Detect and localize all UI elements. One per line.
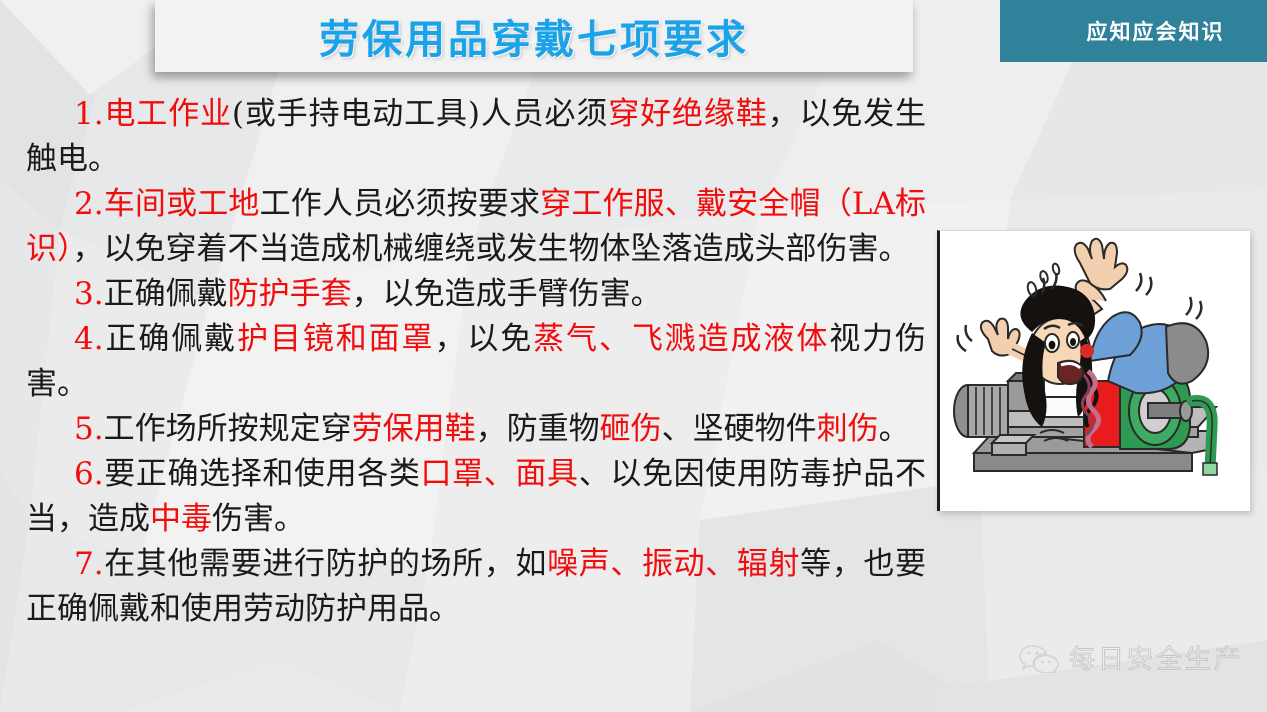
page-title: 劳保用品穿戴七项要求 (319, 7, 749, 65)
highlighted-text: 5. (74, 411, 104, 447)
requirement-item-6: 6.要正确选择和使用各类口罩、面具、以免因使用防毒护品不当，造成中毒伤害。 (26, 452, 926, 542)
watermark: 每日安全生产 (1019, 639, 1243, 676)
body-text: ，以免造成手臂伤害。 (352, 276, 662, 312)
body-text: ，防重物 (476, 411, 600, 447)
requirement-item-5: 5.工作场所按规定穿劳保用鞋，防重物砸伤、坚硬物件刺伤。 (26, 407, 926, 452)
highlighted-text: 2. (74, 186, 104, 222)
body-text: 、坚硬物件 (662, 411, 817, 447)
highlighted-text: 噪声、振动、辐射 (547, 546, 800, 582)
highlighted-text: 口罩、面具 (421, 456, 579, 492)
highlighted-text: 4. (74, 321, 104, 357)
content-body: 1.电工作业(或手持电动工具)人员必须穿好绝缘鞋，以免发生触电。 2.车间或工地… (26, 92, 926, 632)
highlighted-text: 1. (74, 96, 104, 132)
highlighted-text: 6. (74, 456, 104, 492)
body-text: (或手持电动工具)人员必须 (232, 96, 608, 132)
highlighted-text: 砸伤 (600, 411, 662, 447)
highlighted-text: 7. (74, 546, 104, 582)
body-text: 在其他需要进行防护的场所，如 (104, 546, 547, 582)
corner-badge-label: 应知应会知识 (1043, 16, 1225, 46)
wechat-icon (1019, 643, 1059, 673)
body-text: 要正确选择和使用各类 (104, 456, 421, 492)
highlighted-text: 穿好绝缘鞋 (608, 96, 767, 132)
requirement-item-3: 3.正确佩戴防护手套，以免造成手臂伤害。 (26, 272, 926, 317)
requirement-item-7: 7.在其他需要进行防护的场所，如噪声、振动、辐射等，也要正确佩戴和使用劳动防护用… (26, 542, 926, 632)
highlighted-text: 劳保用鞋 (352, 411, 476, 447)
body-text: ，以免穿着不当造成机械缠绕或发生物体坠落造成头部伤害。 (73, 231, 910, 267)
body-text: 正确佩戴 (104, 321, 237, 357)
watermark-label: 每日安全生产 (1069, 639, 1243, 676)
body-text: 伤害。 (212, 501, 305, 537)
body-text: 。 (879, 411, 910, 447)
body-text: ，以免 (434, 321, 533, 357)
highlighted-text: 蒸气、飞溅造成液体 (533, 321, 829, 357)
requirement-item-1: 1.电工作业(或手持电动工具)人员必须穿好绝缘鞋，以免发生触电。 (26, 92, 926, 182)
highlighted-text: 3. (74, 276, 104, 312)
body-text: 工作人员必须按要求 (260, 186, 541, 222)
highlighted-text: 刺伤 (817, 411, 879, 447)
requirement-item-2: 2.车间或工地工作人员必须按要求穿工作服、戴安全帽（LA标识），以免穿着不当造成… (26, 182, 926, 272)
slide-root: 应知应会知识 劳保用品穿戴七项要求 1.电工作业(或手持电动工具)人员必须穿好绝… (0, 0, 1267, 712)
highlighted-text: 电工作业 (104, 96, 232, 132)
accident-illustration (937, 230, 1250, 511)
body-text: 工作场所按规定穿 (104, 411, 352, 447)
highlighted-text: 车间或工地 (104, 186, 260, 222)
highlighted-text: 护目镜和面罩 (237, 321, 434, 357)
title-plate: 劳保用品穿戴七项要求 (155, 0, 913, 72)
body-text: 正确佩戴 (104, 276, 228, 312)
corner-badge: 应知应会知识 (1000, 0, 1267, 62)
highlighted-text: 中毒 (150, 501, 212, 537)
highlighted-text: 防护手套 (228, 276, 352, 312)
requirement-item-4: 4.正确佩戴护目镜和面罩，以免蒸气、飞溅造成液体视力伤害。 (26, 317, 926, 407)
